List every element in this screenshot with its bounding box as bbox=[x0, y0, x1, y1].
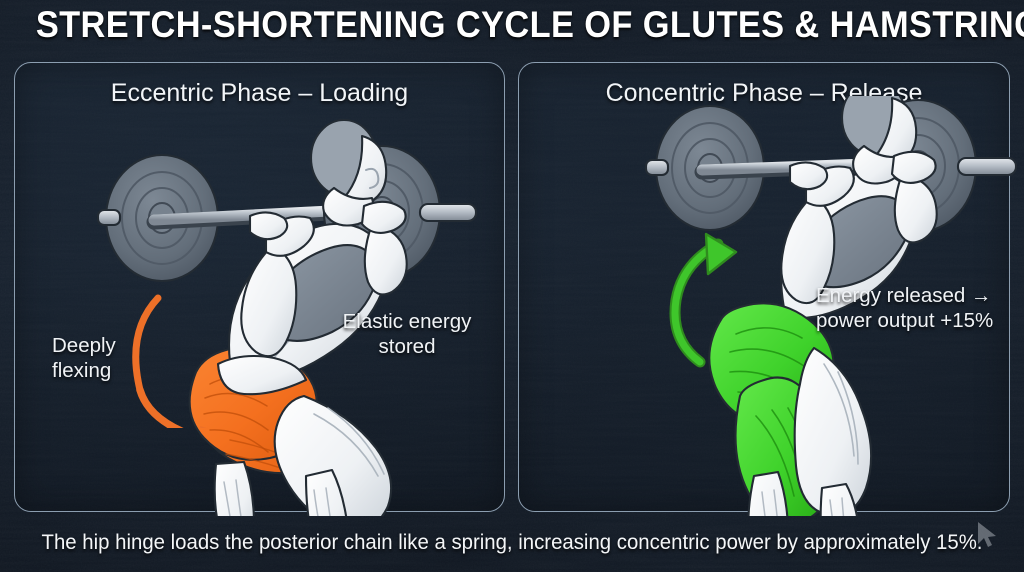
shin-rear bbox=[215, 462, 254, 516]
page-title: STRETCH-SHORTENING CYCLE OF GLUTES & HAM… bbox=[36, 4, 988, 46]
annotation-deeply-flexing: Deeply flexing bbox=[52, 333, 182, 383]
annotation-elastic-energy: Elastic energy stored bbox=[322, 309, 492, 359]
footer-caption: The hip hinge loads the posterior chain … bbox=[15, 531, 1008, 555]
annotation-energy-released: Energy released → power output +15% bbox=[816, 283, 1016, 333]
infographic-canvas: STRETCH-SHORTENING CYCLE OF GLUTES & HAM… bbox=[0, 0, 1024, 572]
head bbox=[311, 120, 386, 205]
curved-up-arrow-icon bbox=[656, 232, 766, 372]
